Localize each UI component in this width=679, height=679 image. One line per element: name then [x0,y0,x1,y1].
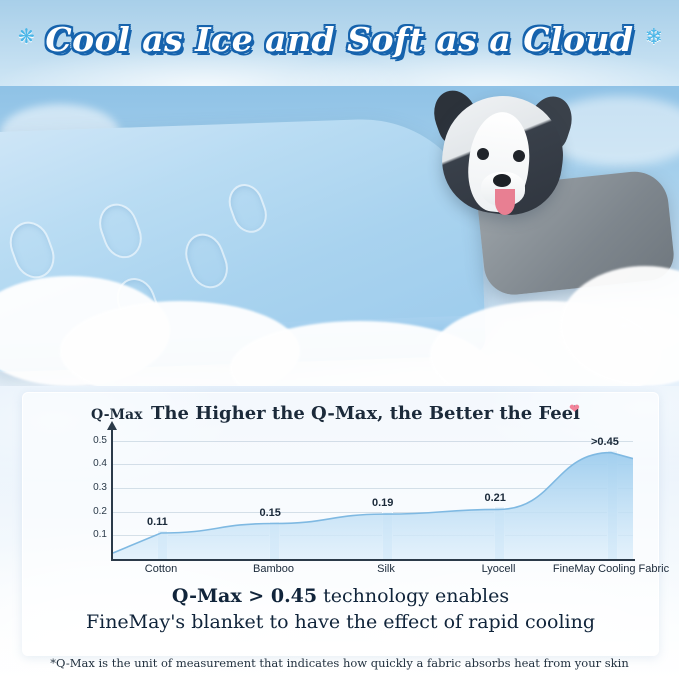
x-tick-label: FineMay Cooling Fabric [551,563,671,575]
claim-line-2: FineMay's blanket to have the effect of … [23,611,658,633]
claim-bold: Q-Max > 0.45 [172,585,317,607]
blanket-fold [3,216,60,284]
data-point-label: >0.45 [591,436,619,448]
x-tick-label: Cotton [101,563,221,575]
blanket-fold [93,198,148,264]
claim-line-1: Q-Max > 0.45 technology enables [23,585,658,607]
y-tick-label: 0.5 [75,435,107,446]
chart-curve [113,429,633,559]
y-tick-label: 0.2 [75,506,107,517]
x-tick-label: Silk [326,563,446,575]
y-tick-label: 0.4 [75,458,107,469]
page-title: Cool as Ice and Soft as a Cloud [0,20,679,59]
border-collie-dog [429,90,609,240]
dog-tongue [495,189,515,215]
chart-title: The Higher the Q-Max, the Better the Fee… [151,403,580,424]
snowflake-icon-right: ❄ [645,26,663,48]
x-tick-label: Lyocell [439,563,559,575]
data-point-label: 0.21 [485,492,506,504]
data-point-label: 0.19 [372,497,393,509]
header-banner: ❋ Cool as Ice and Soft as a Cloud ❄ [0,0,679,86]
y-tick-label: 0.1 [75,529,107,540]
chart-plot-area: 0.50.40.30.20.1 0.110.150.190.21>0.45 [75,429,635,559]
curve-svg [113,429,633,559]
x-tick-labels: CottonBambooSilkLyocellFineMay Cooling F… [75,563,635,579]
footnote: *Q-Max is the unit of measurement that i… [0,656,679,670]
product-photo [0,86,679,386]
y-tick-label: 0.3 [75,482,107,493]
x-axis [111,559,635,561]
page-background: ❋ Cool as Ice and Soft as a Cloud ❄ [0,0,679,679]
claim-rest: technology enables [317,585,509,607]
heart-icon: ❤ [569,401,580,417]
qmax-chart-card: Q-Max The Higher the Q-Max, the Better t… [22,392,659,656]
blanket-fold [223,179,272,238]
x-tick-label: Bamboo [214,563,334,575]
data-point-label: 0.15 [260,507,281,519]
dog-nose [493,174,511,187]
dog-eye-left [477,148,489,160]
data-point-label: 0.11 [147,516,168,528]
dog-eye-right [513,150,525,162]
blanket-fold [179,228,234,294]
